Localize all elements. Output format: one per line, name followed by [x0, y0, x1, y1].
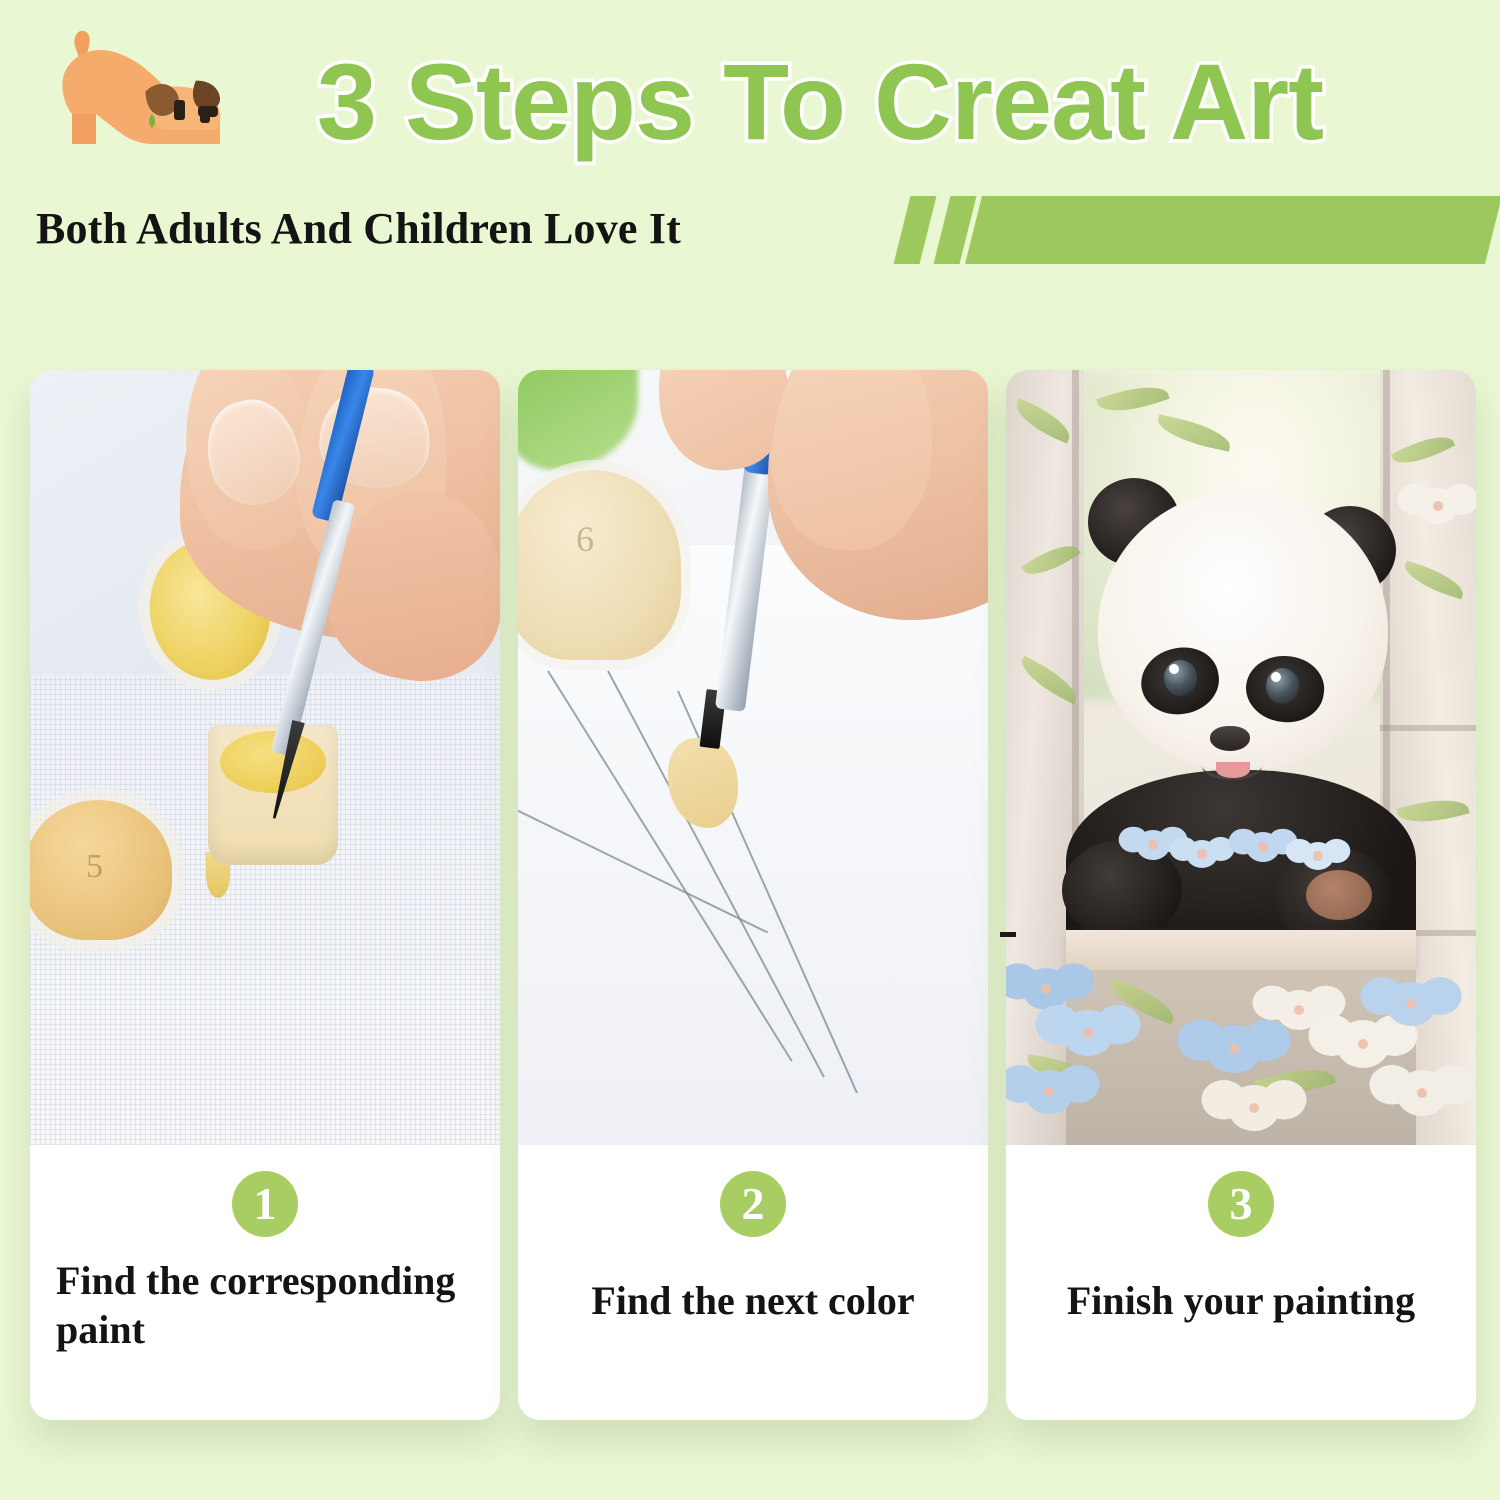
stripe-main-band — [965, 196, 1500, 264]
panda-nose — [1210, 726, 1250, 751]
white-flower — [1418, 488, 1458, 524]
page-subtitle: Both Adults And Children Love It — [36, 203, 681, 254]
flower-core — [1044, 1087, 1054, 1097]
paint-pot-number: 5 — [86, 848, 103, 886]
blue-flower — [1024, 1070, 1074, 1114]
step-3-caption-text: Finish your painting — [1032, 1277, 1450, 1326]
blue-flower — [1022, 968, 1070, 1010]
flower-core — [1229, 1044, 1239, 1054]
step-2-photo: 6 — [518, 370, 988, 1145]
flower-core — [1197, 849, 1207, 859]
step-1-caption-text: Find the corresponding paint — [56, 1257, 474, 1355]
blue-flower — [1246, 832, 1280, 862]
step-number-badge-2: 2 — [720, 1171, 786, 1237]
steps-card-row: 5 1 Find the corresponding paint 6 — [0, 370, 1500, 1430]
flower-core — [1433, 501, 1443, 511]
step-card-1[interactable]: 5 1 Find the corresponding paint — [30, 370, 500, 1420]
panda-tongue — [1216, 762, 1250, 778]
white-flower — [1336, 1020, 1390, 1068]
flower-core — [1294, 1005, 1304, 1015]
white-flower — [1228, 1085, 1280, 1131]
flower-core — [1041, 984, 1051, 994]
step-3-photo — [1006, 370, 1476, 1145]
step-2-caption-area: 2 Find the next color — [518, 1145, 988, 1420]
flower-core — [1249, 1103, 1259, 1113]
blue-flower — [1136, 830, 1170, 860]
header-section: 3 Steps To Creat Art Both Adults And Chi… — [0, 0, 1500, 360]
edge-artifact-mark — [1000, 932, 1016, 937]
step-card-3[interactable]: 3 Finish your painting — [1006, 370, 1476, 1420]
flower-core — [1313, 851, 1323, 861]
stretching-dog-icon — [42, 22, 237, 172]
step-number-badge-3: 3 — [1208, 1171, 1274, 1237]
background-green-blur — [518, 370, 638, 470]
step-2-caption-text: Find the next color — [544, 1277, 962, 1326]
panda-eye-glint-right — [1271, 672, 1281, 682]
blue-flower — [1386, 982, 1436, 1026]
flower-core — [1258, 842, 1268, 852]
step-1-photo: 5 — [30, 370, 500, 1145]
window-sill — [1066, 930, 1416, 972]
blue-flower — [1062, 1010, 1114, 1056]
white-flower — [1396, 1070, 1448, 1116]
paint-pot-number: 6 — [576, 518, 594, 560]
window-mullion — [1380, 725, 1476, 731]
panda-eye-glint-left — [1169, 664, 1179, 674]
step-number-badge-1: 1 — [232, 1171, 298, 1237]
step-1-caption-area: 1 Find the corresponding paint — [30, 1145, 500, 1420]
flower-core — [1358, 1039, 1368, 1049]
blue-flower — [1206, 1025, 1262, 1073]
step-card-2[interactable]: 6 2 Find the next color — [518, 370, 988, 1420]
blue-flower — [1186, 840, 1218, 868]
paint-pot-closed — [518, 470, 681, 660]
flower-core — [1406, 999, 1416, 1009]
flower-core — [1417, 1088, 1427, 1098]
banner-stripe-decoration — [900, 196, 1500, 264]
flower-core — [1148, 840, 1158, 850]
step-3-caption-area: 3 Finish your painting — [1006, 1145, 1476, 1420]
flower-core — [1083, 1028, 1093, 1038]
page-title: 3 Steps To Creat Art — [230, 48, 1410, 156]
stripe-sliver-1 — [894, 196, 937, 264]
panda-paw — [1306, 870, 1372, 920]
blue-flower — [1302, 842, 1334, 870]
